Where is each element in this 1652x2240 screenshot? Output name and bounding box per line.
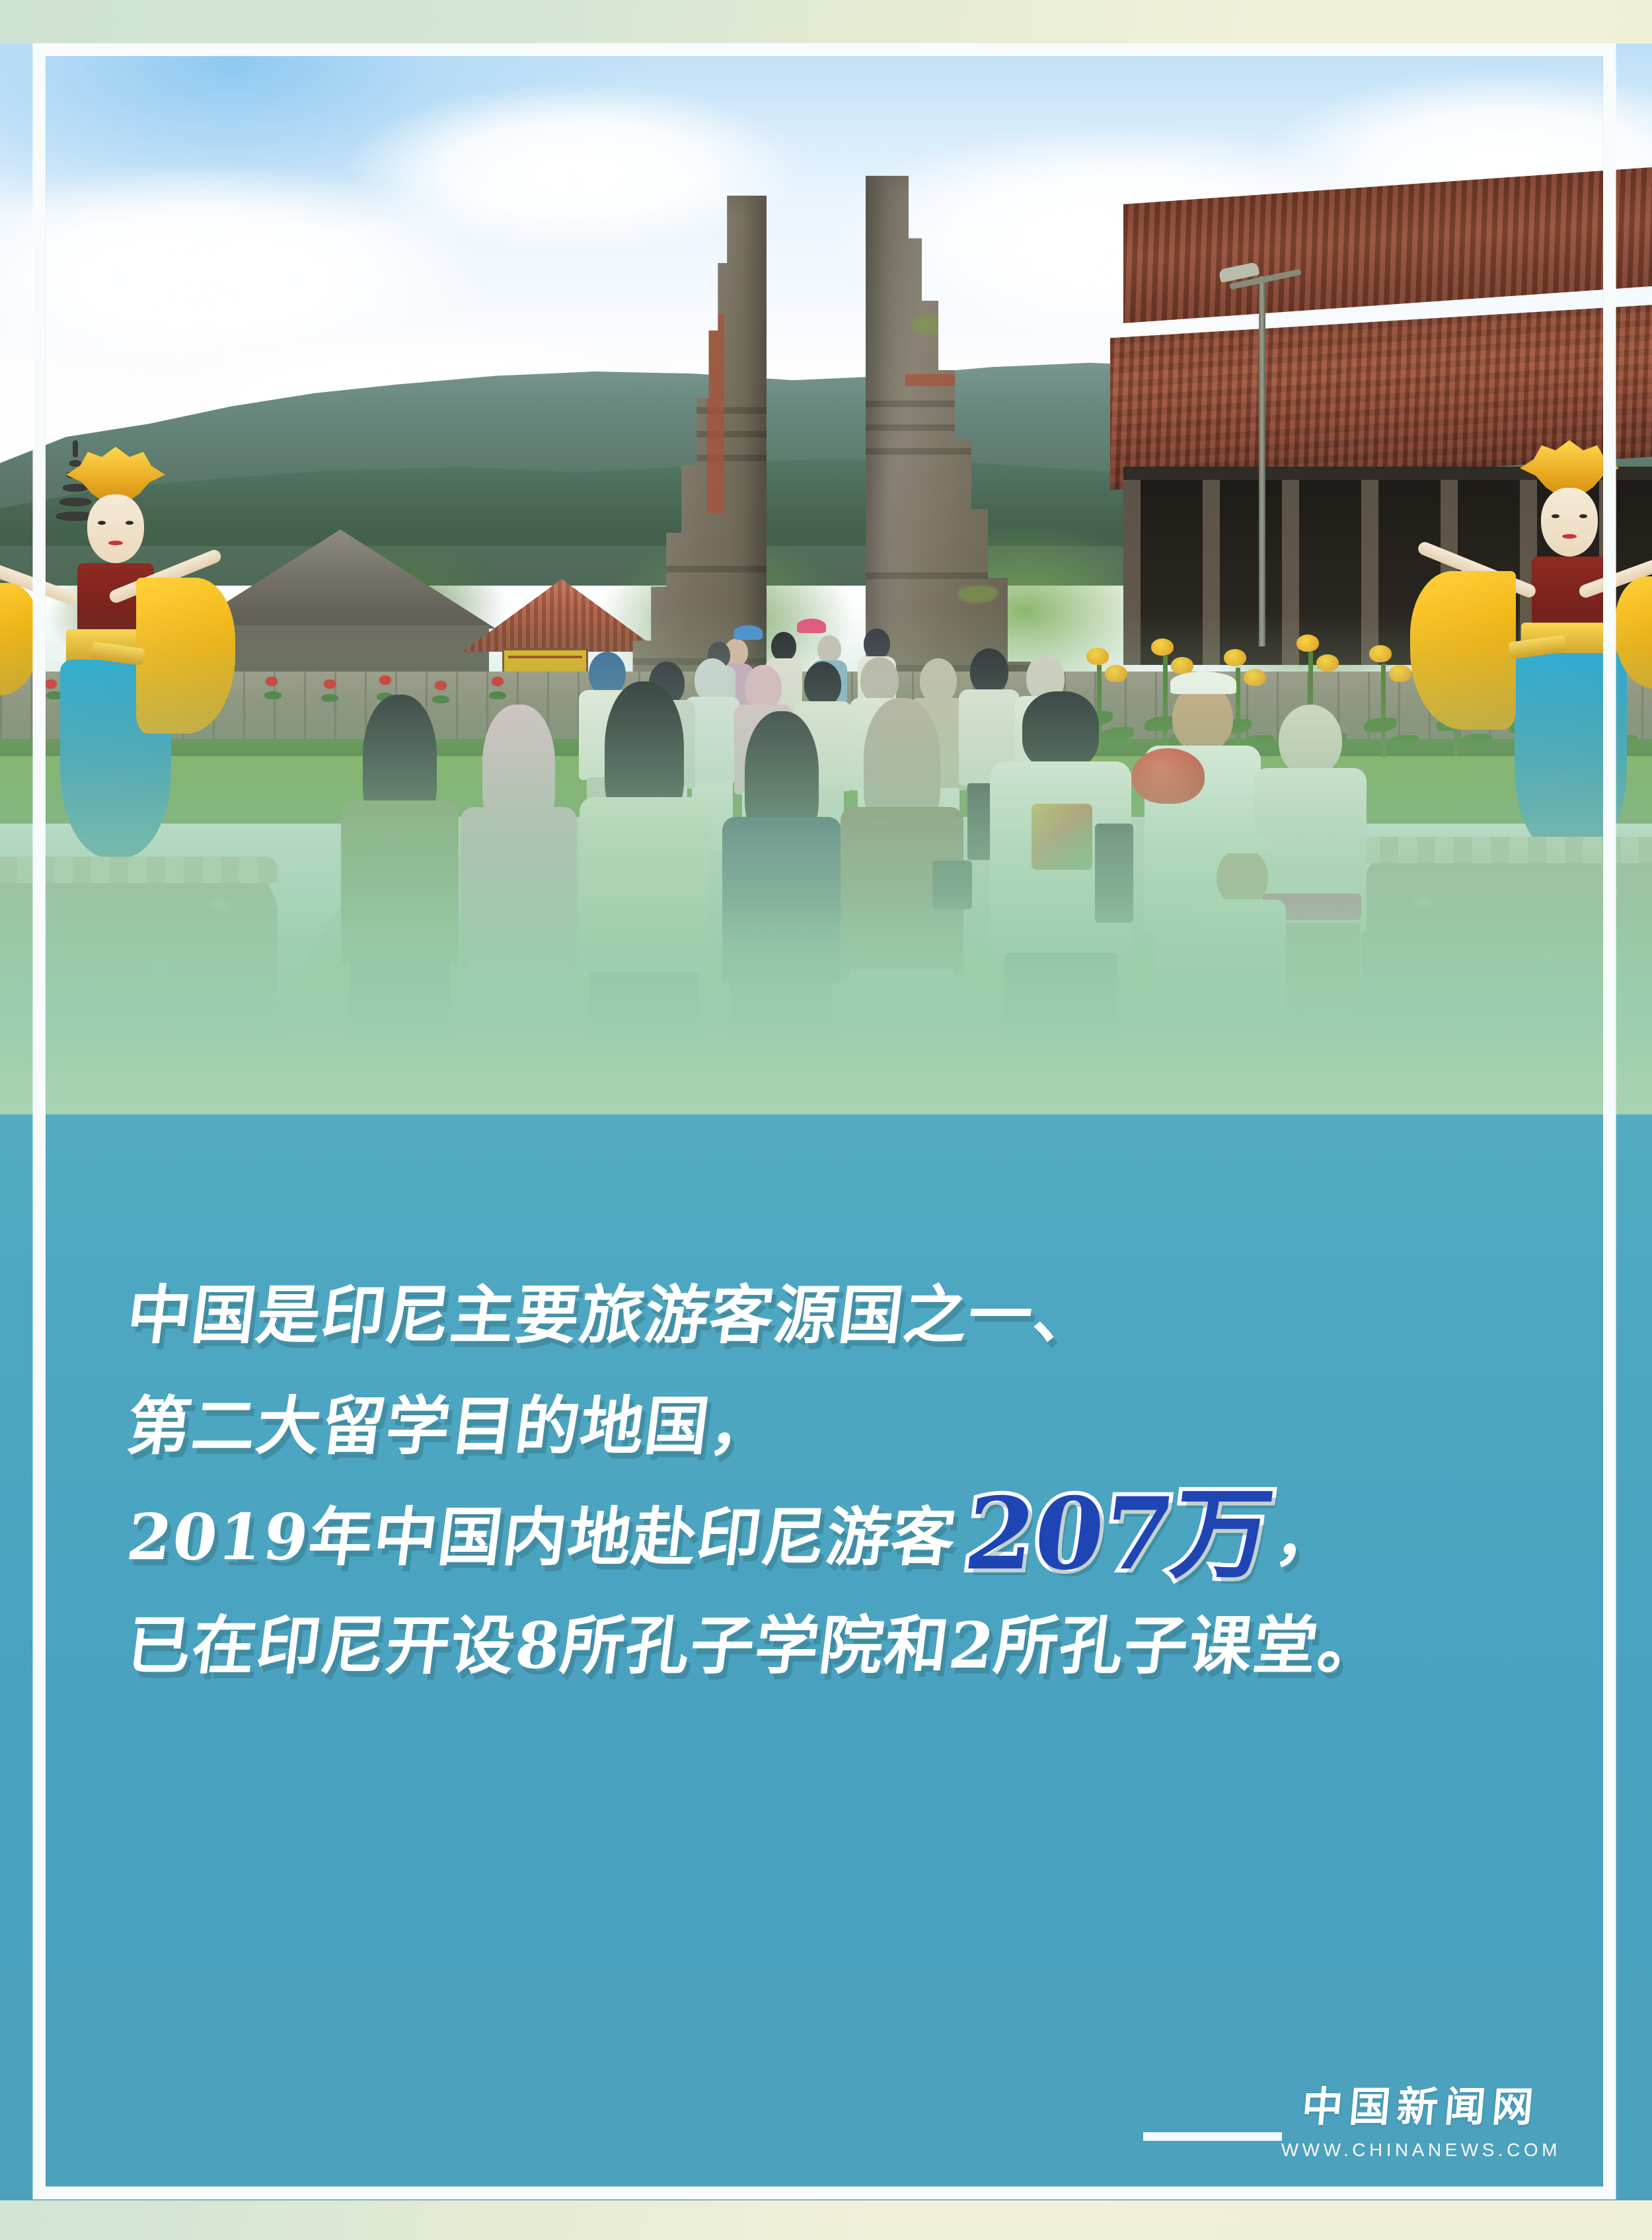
copy-line-4: 已在印尼开设8所孔子学院和2所孔子课堂。 [122, 1603, 1583, 1689]
copy-line-2: 第二大留学目的地国， [122, 1383, 1583, 1469]
copy-line-1: 中国是印尼主要旅游客源国之一、 [122, 1272, 1583, 1358]
temple-photograph [0, 44, 1652, 1114]
art-panel [0, 44, 1652, 2200]
copy-line-3-before: 2019年中国内地赴印尼游客 [123, 1500, 961, 1574]
logo-rule-left [1143, 2132, 1282, 2141]
street-lamp-pole [1259, 276, 1265, 646]
copy-line-3-after: ， [1271, 1500, 1345, 1574]
photo-edge-fade [0, 1024, 1652, 1114]
logo-url-text: WWW.CHINANEWS.COM [1281, 2140, 1561, 2161]
infographic-poster: 中国是印尼主要旅游客源国之一、 第二大留学目的地国， 2019年中国内地赴印尼游… [0, 0, 1652, 2240]
headline-copy: 中国是印尼主要旅游客源国之一、 第二大留学目的地国， 2019年中国内地赴印尼游… [122, 1272, 1573, 1689]
copy-line-3: 2019年中国内地赴印尼游客207万， [122, 1494, 1583, 1580]
logo-chinese-text: 中国新闻网 [1279, 2073, 1563, 2133]
chinanews-logo: 中国新闻网 WWW.CHINANEWS.COM [1281, 2073, 1561, 2161]
highlight-figure: 207万 [962, 1501, 1276, 1567]
